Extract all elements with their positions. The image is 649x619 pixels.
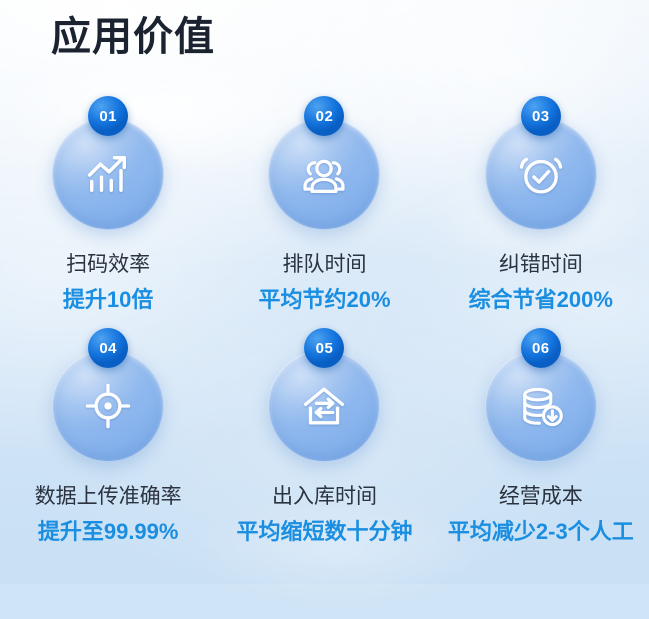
item-label-02: 排队时间 (282, 252, 366, 277)
item-value-01: 提升10倍 (63, 287, 153, 313)
item-value-04: 提升至99.99% (38, 519, 179, 545)
icon-container-05: 05 (268, 350, 380, 462)
badge-number: 01 (99, 109, 117, 124)
item-badge-01: 01 (88, 96, 128, 136)
icon-container-06: 06 (485, 350, 597, 462)
item-label-06: 经营成本 (499, 484, 583, 509)
badge-number: 05 (316, 341, 334, 356)
item-badge-04: 04 (88, 328, 128, 368)
icon-container-02: 02 (268, 118, 380, 230)
value-items-grid: 01 扫码效率 提升10倍 (0, 98, 649, 562)
icon-container-01: 01 (52, 118, 164, 230)
item-value-02: 平均节约20% (258, 287, 390, 313)
page-content: 应用价值 01 扫码 (0, 0, 649, 584)
item-badge-03: 03 (521, 96, 561, 136)
item-label-04: 数据上传准确率 (35, 484, 182, 509)
badge-number: 06 (532, 341, 550, 356)
value-item-06: 06 经营成本 平均减少2-3个人工 (433, 330, 649, 562)
item-badge-02: 02 (304, 96, 344, 136)
icon-container-03: 03 (485, 118, 597, 230)
badge-number: 04 (99, 341, 117, 356)
item-value-03: 综合节省200% (469, 287, 613, 313)
item-value-05: 平均缩短数十分钟 (236, 519, 412, 545)
item-badge-06: 06 (521, 328, 561, 368)
icon-container-04: 04 (52, 350, 164, 462)
value-item-01: 01 扫码效率 提升10倍 (0, 98, 216, 330)
badge-number: 02 (316, 109, 334, 124)
value-item-04: 04 数据上传准确率 提升至99.99% (0, 330, 216, 562)
page-title: 应用价值 (51, 12, 215, 62)
value-item-02: 02 排队时间 平均节约20% (216, 98, 432, 330)
item-label-05: 出入库时间 (272, 484, 377, 509)
value-item-05: 05 出入库时间 平均缩短数十分钟 (216, 330, 432, 562)
item-badge-05: 05 (304, 328, 344, 368)
item-label-03: 纠错时间 (499, 252, 583, 277)
value-item-03: 03 纠错时间 综合节省200% (433, 98, 649, 330)
badge-number: 03 (532, 109, 550, 124)
item-label-01: 扫码效率 (66, 252, 150, 277)
item-value-06: 平均减少2-3个人工 (448, 519, 634, 545)
